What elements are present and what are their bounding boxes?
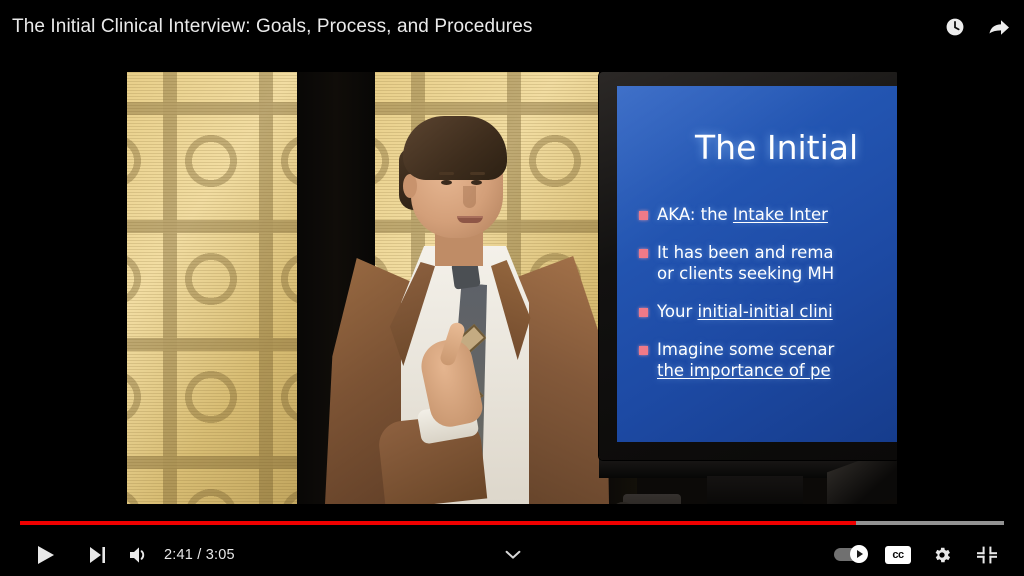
captions-label: cc bbox=[885, 546, 911, 564]
title-bar: The Initial Clinical Interview: Goals, P… bbox=[0, 0, 1024, 58]
eyebrow-right bbox=[470, 172, 485, 175]
control-buttons: 2:41 / 3:05 cc bbox=[0, 534, 1024, 576]
presenter-figure bbox=[323, 100, 623, 504]
progress-bar[interactable] bbox=[20, 518, 1004, 528]
mouth bbox=[457, 216, 483, 223]
next-button[interactable] bbox=[78, 534, 118, 576]
autoplay-toggle[interactable] bbox=[834, 545, 868, 563]
backdrop-motif bbox=[127, 72, 299, 504]
bullet-marker-icon bbox=[639, 211, 648, 220]
slide-bullet-text: It has been and rema or clients seeking … bbox=[657, 242, 897, 284]
video-stage[interactable]: The Initial AKA: the Intake Inter It has… bbox=[127, 72, 897, 504]
eyebrow-left bbox=[439, 172, 454, 175]
share-icon[interactable] bbox=[986, 14, 1012, 40]
hair bbox=[403, 116, 507, 180]
player-controls: 2:41 / 3:05 cc bbox=[0, 504, 1024, 576]
slide-bullet: It has been and rema or clients seeking … bbox=[627, 242, 897, 284]
monitor-stand bbox=[707, 476, 803, 504]
page-title[interactable]: The Initial Clinical Interview: Goals, P… bbox=[12, 16, 532, 38]
chevron-down-icon[interactable] bbox=[492, 534, 534, 576]
slide-bullet-text: Your initial-initial clini bbox=[657, 301, 897, 322]
slide-bullet-list: AKA: the Intake Inter It has been and re… bbox=[627, 204, 897, 398]
title-actions bbox=[942, 14, 1012, 40]
eye-left bbox=[441, 180, 452, 185]
progress-track[interactable] bbox=[20, 521, 1004, 525]
slide-bullet: Imagine some scenar the importance of pe bbox=[627, 339, 897, 381]
slide-title: The Initial bbox=[695, 128, 858, 167]
time-display: 2:41 / 3:05 bbox=[164, 534, 235, 576]
slide-bullet: Your initial-initial clini bbox=[627, 301, 897, 322]
slide-screen: The Initial AKA: the Intake Inter It has… bbox=[617, 86, 897, 442]
progress-played bbox=[20, 521, 856, 525]
autoplay-toggle-knob bbox=[850, 545, 868, 563]
settings-gear-icon[interactable] bbox=[926, 534, 958, 576]
play-button[interactable] bbox=[26, 534, 66, 576]
exit-fullscreen-icon[interactable] bbox=[970, 534, 1004, 576]
nose bbox=[463, 186, 476, 208]
volume-button[interactable] bbox=[120, 534, 160, 576]
video-player[interactable]: The Initial AKA: the Intake Inter It has… bbox=[0, 0, 1024, 576]
bullet-marker-icon bbox=[639, 308, 648, 317]
eye-right bbox=[471, 180, 482, 185]
backdrop-panel-left bbox=[127, 72, 299, 504]
slide-bullet-text: AKA: the Intake Inter bbox=[657, 204, 897, 225]
watch-later-icon[interactable] bbox=[942, 14, 968, 40]
coffee-mug bbox=[623, 494, 681, 504]
slide-bullet: AKA: the Intake Inter bbox=[627, 204, 897, 225]
bullet-marker-icon bbox=[639, 346, 648, 355]
presentation-monitor: The Initial AKA: the Intake Inter It has… bbox=[599, 72, 897, 460]
slide-bullet-text: Imagine some scenar the importance of pe bbox=[657, 339, 897, 381]
bullet-marker-icon bbox=[639, 249, 648, 258]
captions-button[interactable]: cc bbox=[882, 534, 914, 576]
